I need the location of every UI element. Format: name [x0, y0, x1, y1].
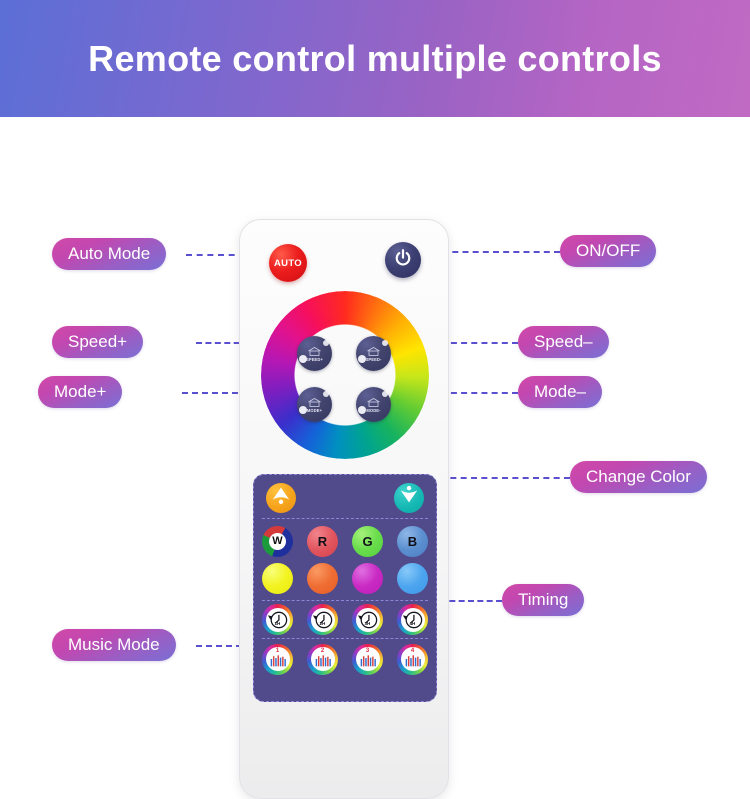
power-icon	[393, 248, 413, 273]
music-mode-1-button[interactable]: 1	[262, 644, 293, 675]
clock-icon: 3H	[356, 608, 380, 632]
mode-plus-button[interactable]: MODE+	[297, 387, 332, 422]
speed-plus-label: SPEED+	[306, 357, 323, 362]
timer-2h-button[interactable]: 2H	[307, 604, 338, 635]
callout-mode-plus-label: Mode+	[54, 382, 106, 402]
remote-control-body: AUTO SPEED+	[239, 219, 449, 799]
timer-3h-button[interactable]: 3H	[352, 604, 383, 635]
callout-auto-mode[interactable]: Auto Mode	[52, 238, 166, 270]
timer-3h-label: 3H	[365, 621, 371, 626]
page-title: Remote control multiple controls	[88, 38, 662, 80]
white-color-button[interactable]: W	[262, 526, 293, 557]
red-color-button[interactable]: R	[307, 526, 338, 557]
mode-plus-label: MODE+	[307, 408, 322, 413]
music-mode-1-label: 1	[276, 648, 279, 654]
clock-icon: 1H	[266, 608, 290, 632]
mode-minus-button[interactable]: MODE-	[356, 387, 391, 422]
brightness-down-button[interactable]	[394, 483, 424, 513]
music-mode-3-button[interactable]: 3	[352, 644, 383, 675]
brightness-row	[262, 481, 428, 519]
color-presets-row	[262, 561, 428, 601]
orange-color-button[interactable]	[307, 563, 338, 594]
color-wheel-inner: SPEED+ SPEED- MODE+	[261, 291, 429, 459]
equalizer-icon: 4	[401, 647, 425, 671]
magenta-color-button[interactable]	[352, 563, 383, 594]
callout-speed-minus-label: Speed–	[534, 332, 593, 352]
music-mode-2-label: 2	[321, 648, 324, 654]
callout-speed-plus-label: Speed+	[68, 332, 127, 352]
white-color-label: W	[269, 533, 286, 550]
timer-4h-label: 4H	[410, 621, 416, 626]
callout-mode-minus-label: Mode–	[534, 382, 586, 402]
music-mode-4-label: 4	[411, 648, 414, 654]
speed-plus-button[interactable]: SPEED+	[297, 336, 332, 371]
wrgb-row: W R G B	[262, 521, 428, 561]
music-mode-4-button[interactable]: 4	[397, 644, 428, 675]
timing-row: 1H 2H	[262, 605, 428, 639]
timer-4h-button[interactable]: 4H	[397, 604, 428, 635]
green-color-button[interactable]: G	[352, 526, 383, 557]
power-button[interactable]	[385, 242, 421, 278]
auto-button[interactable]: AUTO	[269, 244, 307, 282]
blue-color-label: B	[408, 534, 417, 549]
callout-music-mode-label: Music Mode	[68, 635, 160, 655]
callout-speed-plus[interactable]: Speed+	[52, 326, 143, 358]
diagram-stage: AUTO SPEED+	[0, 117, 750, 750]
callout-timing[interactable]: Timing	[502, 584, 584, 616]
speed-minus-button[interactable]: SPEED-	[356, 336, 391, 371]
auto-button-label: AUTO	[274, 258, 302, 269]
callout-auto-mode-label: Auto Mode	[68, 244, 150, 264]
equalizer-icon: 1	[266, 647, 290, 671]
connector-change-color	[440, 477, 570, 479]
callout-mode-minus[interactable]: Mode–	[518, 376, 602, 408]
color-wheel[interactable]: SPEED+ SPEED- MODE+	[261, 291, 429, 459]
callout-mode-plus[interactable]: Mode+	[38, 376, 122, 408]
callout-change-color[interactable]: Change Color	[570, 461, 707, 493]
music-mode-2-button[interactable]: 2	[307, 644, 338, 675]
arrow-down-icon	[398, 484, 420, 511]
cyan-color-button[interactable]	[397, 563, 428, 594]
connector-on-off	[432, 251, 560, 253]
clock-icon: 2H	[311, 608, 335, 632]
callout-on-off[interactable]: ON/OFF	[560, 235, 656, 267]
music-mode-3-label: 3	[366, 648, 369, 654]
music-row: 1	[262, 642, 428, 676]
mode-minus-label: MODE-	[366, 408, 380, 413]
timer-1h-label: 1H	[275, 621, 281, 626]
page-header: Remote control multiple controls	[0, 0, 750, 117]
timer-1h-button[interactable]: 1H	[262, 604, 293, 635]
equalizer-icon: 3	[356, 647, 380, 671]
yellow-color-button[interactable]	[262, 563, 293, 594]
callout-timing-label: Timing	[518, 590, 568, 610]
callout-change-color-label: Change Color	[586, 467, 691, 487]
callout-on-off-label: ON/OFF	[576, 241, 640, 261]
callout-music-mode[interactable]: Music Mode	[52, 629, 176, 661]
green-color-label: G	[362, 534, 372, 549]
clock-icon: 4H	[401, 608, 425, 632]
red-color-label: R	[318, 534, 327, 549]
function-panel: W R G B	[253, 474, 437, 702]
arrow-up-icon	[270, 484, 292, 511]
brightness-up-button[interactable]	[266, 483, 296, 513]
equalizer-icon: 2	[311, 647, 335, 671]
blue-color-button[interactable]: B	[397, 526, 428, 557]
connector-timing	[440, 600, 502, 602]
timer-2h-label: 2H	[320, 621, 326, 626]
callout-speed-minus[interactable]: Speed–	[518, 326, 609, 358]
speed-minus-label: SPEED-	[366, 357, 382, 362]
